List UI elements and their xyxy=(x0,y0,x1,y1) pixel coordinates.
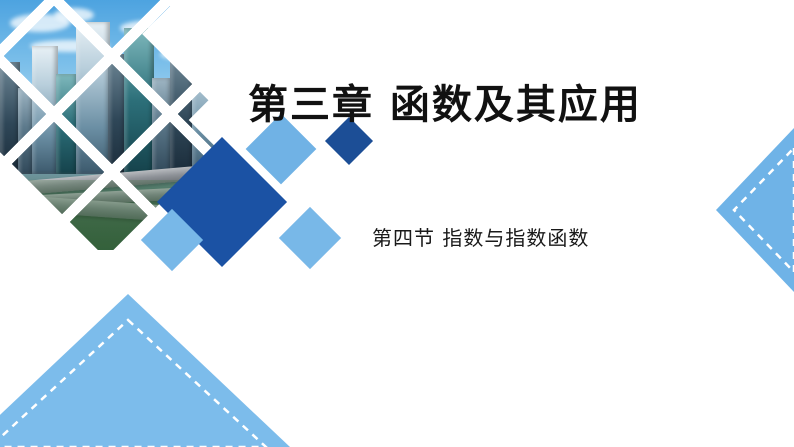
triangle-right-edge-shape xyxy=(700,120,794,300)
cloud-icon xyxy=(54,8,94,22)
building xyxy=(152,78,172,174)
triangle-bottom-left xyxy=(0,280,300,447)
triangle-right-edge xyxy=(700,120,794,300)
page-title: 第三章 函数及其应用 xyxy=(248,72,642,130)
triangle-bottom-left-shape xyxy=(0,280,300,447)
title-slide: 第三章 函数及其应用 第四节 指数与指数函数 xyxy=(0,0,794,447)
page-subtitle: 第四节 指数与指数函数 xyxy=(372,222,589,251)
building xyxy=(124,28,154,174)
building xyxy=(76,22,110,174)
building xyxy=(56,74,78,174)
building xyxy=(32,46,58,174)
